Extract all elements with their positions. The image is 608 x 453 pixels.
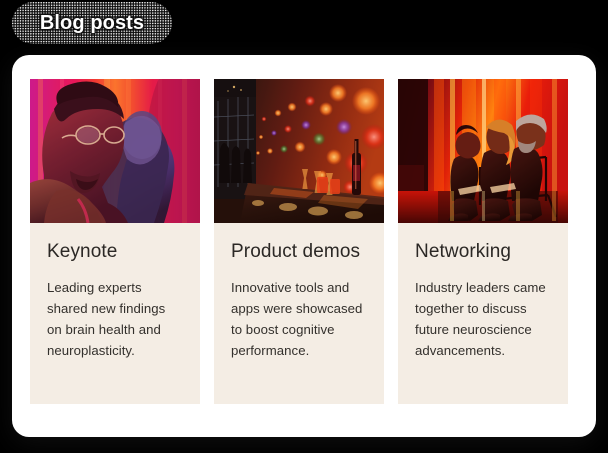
networking-panel-photo-graphic [398, 79, 568, 223]
blog-post-card-list: Keynote Leading experts shared new findi… [30, 79, 578, 404]
keynote-audience-photo [30, 79, 200, 223]
blog-posts-badge: Blog posts [12, 2, 172, 44]
blog-posts-badge-label: Blog posts [40, 12, 144, 35]
blog-post-card-title: Networking [415, 241, 551, 263]
blog-post-card-title: Product demos [231, 241, 367, 263]
blog-post-card[interactable]: Product demos Innovative tools and apps … [214, 79, 384, 404]
blog-post-card-text: Innovative tools and apps were showcased… [231, 277, 367, 361]
blog-post-card-body: Keynote Leading experts shared new findi… [30, 223, 200, 404]
blog-posts-panel: Keynote Leading experts shared new findi… [12, 55, 596, 437]
blog-post-card-text: Industry leaders came together to discus… [415, 277, 551, 361]
blog-post-card-body: Product demos Innovative tools and apps … [214, 223, 384, 404]
product-demos-bar-photo [214, 79, 384, 223]
networking-panel-photo [398, 79, 568, 223]
keynote-audience-photo-graphic [30, 79, 200, 223]
blog-post-card-body: Networking Industry leaders came togethe… [398, 223, 568, 404]
blog-post-card-text: Leading experts shared new findings on b… [47, 277, 183, 361]
blog-post-card[interactable]: Keynote Leading experts shared new findi… [30, 79, 200, 404]
blog-post-card-title: Keynote [47, 241, 183, 263]
product-demos-bar-photo-graphic [214, 79, 384, 223]
blog-post-card[interactable]: Networking Industry leaders came togethe… [398, 79, 568, 404]
